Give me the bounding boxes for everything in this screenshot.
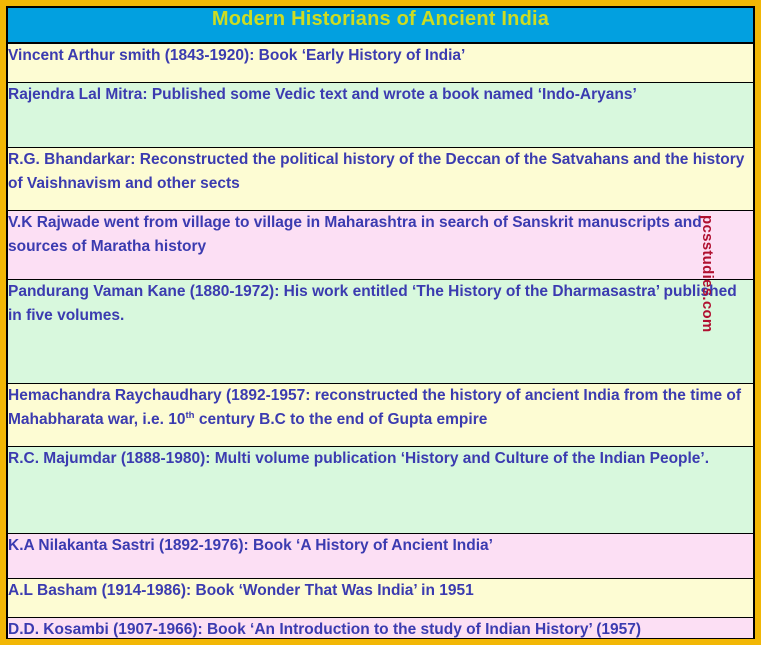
row-cell-dd-kosambi: D.D. Kosambi (1907-1966): Book ‘An Intro… xyxy=(8,618,754,640)
row-cell-hemachandra-raychaudhary: Hemachandra Raychaudhary (1892-1957: rec… xyxy=(8,384,754,447)
row-text-vincent-arthur-smith: Vincent Arthur smith (1843-1920): Book ‘… xyxy=(8,44,753,68)
table-title-row: Modern Historians of Ancient India xyxy=(8,8,754,43)
row-text-pandurang-vaman-kane: Pandurang Vaman Kane (1880-1972): His wo… xyxy=(8,280,753,327)
row-cell-vincent-arthur-smith: Vincent Arthur smith (1843-1920): Book ‘… xyxy=(8,44,754,83)
row-cell-ka-nilakanta-sastri: K.A Nilakanta Sastri (1892-1976): Book ‘… xyxy=(8,534,754,579)
table-row: Rajendra Lal Mitra: Published some Vedic… xyxy=(8,83,754,148)
table-row: K.A Nilakanta Sastri (1892-1976): Book ‘… xyxy=(8,534,754,579)
table-row: A.L Basham (1914-1986): Book ‘Wonder Tha… xyxy=(8,579,754,618)
page-title: Modern Historians of Ancient India xyxy=(8,8,753,30)
row-text-hemachandra-raychaudhary: Hemachandra Raychaudhary (1892-1957: rec… xyxy=(8,384,753,431)
historians-table-container: Modern Historians of Ancient India Vince… xyxy=(6,6,755,639)
row-cell-rc-majumdar: R.C. Majumdar (1888-1980): Multi volume … xyxy=(8,447,754,534)
table-body: Modern Historians of Ancient India xyxy=(8,8,754,43)
row-text-rajendra-lal-mitra: Rajendra Lal Mitra: Published some Vedic… xyxy=(8,83,753,107)
row-cell-rg-bhandarkar: R.G. Bhandarkar: Reconstructed the polit… xyxy=(8,148,754,211)
table-row: R.C. Majumdar (1888-1980): Multi volume … xyxy=(8,447,754,534)
table-row: R.G. Bhandarkar: Reconstructed the polit… xyxy=(8,148,754,211)
row-text-dd-kosambi: D.D. Kosambi (1907-1966): Book ‘An Intro… xyxy=(8,618,753,639)
title-cell: Modern Historians of Ancient India xyxy=(8,8,754,43)
table-row: Pandurang Vaman Kane (1880-1972): His wo… xyxy=(8,280,754,384)
table-row: D.D. Kosambi (1907-1966): Book ‘An Intro… xyxy=(8,618,754,640)
row-cell-pandurang-vaman-kane: Pandurang Vaman Kane (1880-1972): His wo… xyxy=(8,280,754,384)
table-row: Hemachandra Raychaudhary (1892-1957: rec… xyxy=(8,384,754,447)
row-text-al-basham: A.L Basham (1914-1986): Book ‘Wonder Tha… xyxy=(8,579,753,603)
row-text-rg-bhandarkar: R.G. Bhandarkar: Reconstructed the polit… xyxy=(8,148,753,195)
row-cell-al-basham: A.L Basham (1914-1986): Book ‘Wonder Tha… xyxy=(8,579,754,618)
row-text-vk-rajwade: V.K Rajwade went from village to village… xyxy=(8,211,753,258)
row-cell-vk-rajwade: V.K Rajwade went from village to village… xyxy=(8,211,754,280)
historians-table: Modern Historians of Ancient India xyxy=(7,7,754,43)
row-text-ka-nilakanta-sastri: K.A Nilakanta Sastri (1892-1976): Book ‘… xyxy=(8,534,753,558)
historians-rows-body: Vincent Arthur smith (1843-1920): Book ‘… xyxy=(8,44,754,640)
row-text-rc-majumdar: R.C. Majumdar (1888-1980): Multi volume … xyxy=(8,447,753,471)
table-row: Vincent Arthur smith (1843-1920): Book ‘… xyxy=(8,44,754,83)
screenshot-page: Modern Historians of Ancient India Vince… xyxy=(0,0,761,645)
row-cell-rajendra-lal-mitra: Rajendra Lal Mitra: Published some Vedic… xyxy=(8,83,754,148)
historians-rows-table: Vincent Arthur smith (1843-1920): Book ‘… xyxy=(7,43,754,639)
table-row: V.K Rajwade went from village to village… xyxy=(8,211,754,280)
